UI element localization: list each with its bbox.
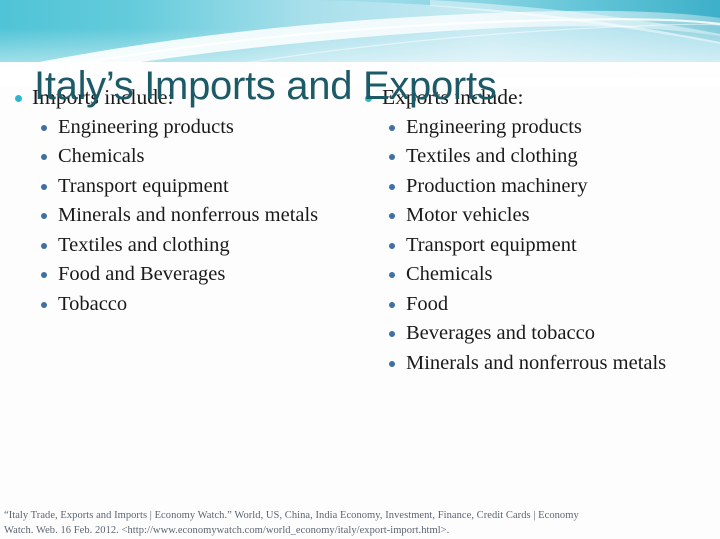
citation-footnote: “Italy Trade, Exports and Imports | Econ… [4,509,716,539]
blue-bullet-icon [389,184,395,190]
list-item: Chemicals [32,142,353,172]
list-item: Textiles and clothing [32,231,353,261]
imports-column: Imports include: Engineering products Ch… [8,84,353,319]
exports-sublist: Engineering products Textiles and clothi… [380,113,710,379]
list-item: Engineering products [32,113,353,143]
list-item-label: Food [406,290,710,320]
blue-bullet-icon [389,272,395,278]
list-item: Tobacco [32,290,353,320]
list-item-label: Engineering products [406,113,710,143]
blue-bullet-icon [41,154,47,160]
slide-canvas: Italy’s Imports and Exports Imports incl… [0,0,720,539]
list-item-label: Engineering products [58,113,353,143]
blue-bullet-icon [389,125,395,131]
blue-bullet-icon [41,184,47,190]
list-item-label: Transport equipment [58,172,353,202]
page-title: Italy’s Imports and Exports [34,65,496,107]
list-item-label: Production machinery [406,172,710,202]
list-item: Beverages and tobacco [380,319,710,349]
list-item-label: Textiles and clothing [406,142,710,172]
list-item-label: Food and Beverages [58,260,353,290]
list-item-label: Chemicals [406,260,710,290]
list-item: Transport equipment [32,172,353,202]
blue-bullet-icon [389,361,395,367]
blue-bullet-icon [41,243,47,249]
blue-bullet-icon [41,302,47,308]
list-item: Minerals and nonferrous metals [32,201,353,231]
list-item-label: Transport equipment [406,231,710,261]
list-item: Production machinery [380,172,710,202]
list-item: Food [380,290,710,320]
blue-bullet-icon [389,154,395,160]
blue-bullet-icon [389,243,395,249]
blue-bullet-icon [389,213,395,219]
blue-bullet-icon [41,213,47,219]
list-item: Minerals and nonferrous metals [380,349,710,379]
list-item-label: Motor vehicles [406,201,710,231]
blue-bullet-icon [41,272,47,278]
list-item: Transport equipment [380,231,710,261]
blue-bullet-icon [389,302,395,308]
list-item-label: Beverages and tobacco [406,319,710,349]
blue-bullet-icon [41,125,47,131]
list-item: Motor vehicles [380,201,710,231]
list-item: Food and Beverages [32,260,353,290]
list-item: Textiles and clothing [380,142,710,172]
teal-bullet-icon [15,95,22,102]
list-item-label: Textiles and clothing [58,231,353,261]
exports-column: Exports include: Engineering products Te… [358,84,710,378]
citation-line-1: “Italy Trade, Exports and Imports | Econ… [4,509,716,524]
list-item-label: Minerals and nonferrous metals [58,201,353,231]
blue-bullet-icon [389,331,395,337]
citation-line-2: Watch. Web. 16 Feb. 2012. <http://www.ec… [4,524,716,539]
list-item: Chemicals [380,260,710,290]
list-item-label: Minerals and nonferrous metals [406,349,710,379]
imports-sublist: Engineering products Chemicals Transport… [32,113,353,320]
list-item-label: Tobacco [58,290,353,320]
list-item: Engineering products [380,113,710,143]
list-item-label: Chemicals [58,142,353,172]
